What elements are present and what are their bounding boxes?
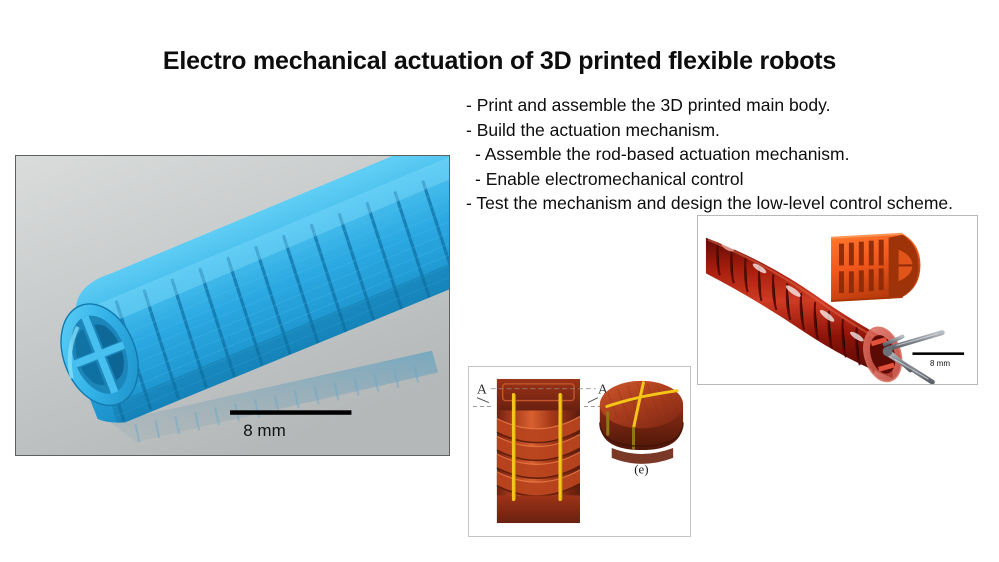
section-view-image: A A	[469, 367, 690, 536]
render-scalebar-label: 8 mm	[914, 359, 966, 368]
blue-tube-photo-image	[16, 156, 449, 455]
red-render-panel: 8 mm	[697, 215, 978, 385]
photo-scalebar	[230, 410, 351, 414]
render-scalebar	[912, 352, 964, 355]
section-caption: (e)	[634, 463, 648, 477]
bullet-item-1: - Print and assemble the 3D printed main…	[466, 93, 994, 118]
bullet-item-2: - Build the actuation mechanism.	[466, 118, 994, 143]
bullet-item-5: - Test the mechanism and design the low-…	[466, 191, 994, 216]
page-title: Electro mechanical actuation of 3D print…	[0, 47, 999, 76]
bullet-item-3: - Assemble the rod-based actuation mecha…	[466, 142, 994, 167]
bullet-item-4: - Enable electromechanical control	[466, 167, 994, 192]
section-view-panel: A A	[468, 366, 691, 537]
photo-scalebar-label: 8 mm	[16, 421, 450, 441]
blue-tube-photo-panel: 8 mm	[15, 155, 450, 456]
bullet-list: - Print and assemble the 3D printed main…	[466, 93, 994, 216]
section-marker-left-label: A	[477, 382, 487, 397]
